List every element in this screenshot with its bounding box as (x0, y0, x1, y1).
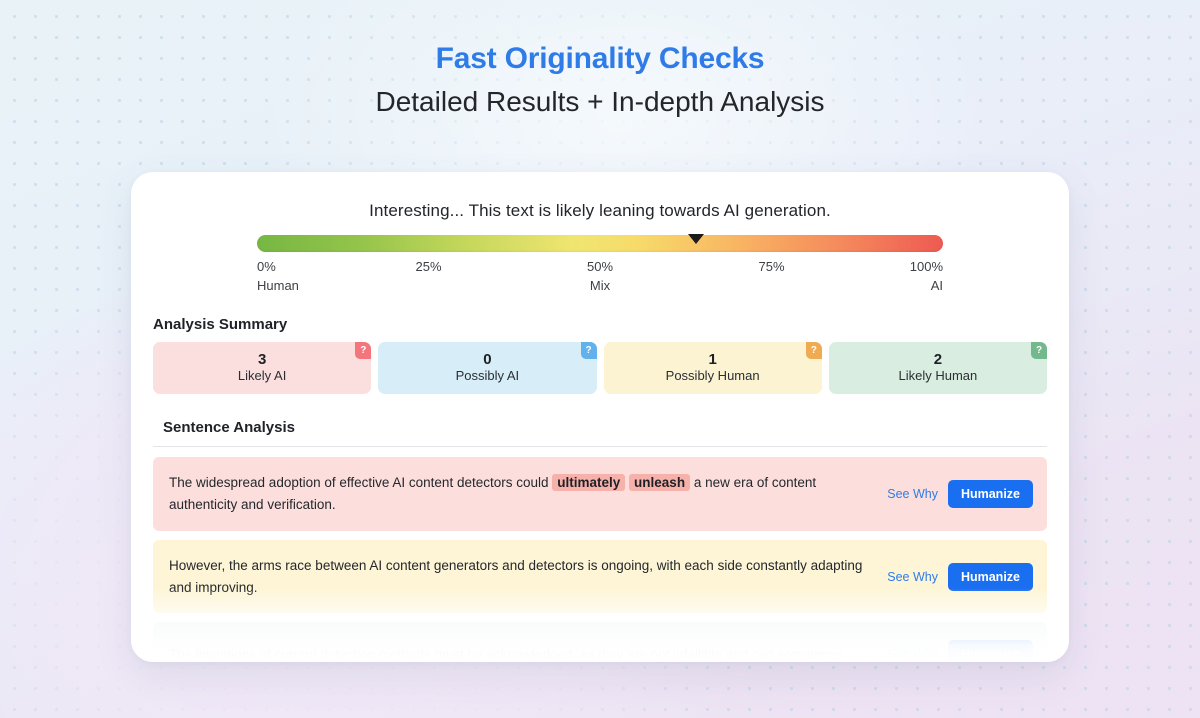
highlighted-phrase[interactable]: unleash (629, 474, 690, 491)
summary-card-likely-ai-count: 3 (258, 352, 266, 369)
sentence-row: However, the arms race between AI conten… (153, 540, 1047, 614)
summary-card-possibly-ai-count: 0 (483, 352, 491, 369)
results-panel: Interesting... This text is likely leani… (131, 172, 1069, 662)
gauge-marker-icon (688, 234, 704, 244)
gauge-tick-0-label: Human (257, 277, 299, 296)
summary-card-possibly-human-label: Possibly Human (666, 369, 760, 384)
gauge-tick-50-percent: 50% (587, 258, 613, 277)
verdict-text: Interesting... This text is likely leani… (131, 172, 1069, 221)
see-why-link[interactable]: See Why (887, 570, 938, 584)
gauge-tick-100-label: AI (910, 277, 943, 296)
sentence-analysis-title: Sentence Analysis (163, 419, 1069, 436)
help-icon[interactable]: ? (355, 342, 371, 359)
help-icon[interactable]: ? (581, 342, 597, 359)
sentence-row: The widespread adoption of effective AI … (153, 457, 1047, 531)
humanize-button[interactable]: Humanize (948, 640, 1033, 662)
sentence-row: The limitations of current detection met… (153, 622, 1047, 662)
gauge-bar (257, 235, 943, 252)
gauge-tick-75: 75% (758, 258, 784, 277)
see-why-link[interactable]: See Why (887, 647, 938, 661)
row-actions: See Why Humanize (887, 563, 1033, 591)
gauge-tick-labels: 0% Human 25% 50% Mix 75% 100% AI (257, 258, 943, 300)
help-icon[interactable]: ? (1031, 342, 1047, 359)
summary-card-possibly-human[interactable]: 1 Possibly Human ? (604, 342, 822, 394)
gauge-tick-25-percent: 25% (415, 258, 441, 277)
analysis-summary-cards: 3 Likely AI ? 0 Possibly AI ? 1 Possibly… (153, 342, 1047, 394)
summary-card-likely-ai-label: Likely AI (238, 369, 286, 384)
gauge-tick-75-percent: 75% (758, 258, 784, 277)
summary-card-likely-human-count: 2 (934, 352, 942, 369)
summary-card-likely-human-label: Likely Human (898, 369, 977, 384)
sentence-analysis-divider (153, 446, 1047, 447)
gauge-tick-50: 50% Mix (587, 258, 613, 296)
see-why-link[interactable]: See Why (887, 487, 938, 501)
gauge-tick-0-percent: 0% (257, 258, 299, 277)
analysis-summary-title: Analysis Summary (153, 316, 1069, 333)
summary-card-possibly-ai[interactable]: 0 Possibly AI ? (378, 342, 596, 394)
summary-card-likely-human[interactable]: 2 Likely Human ? (829, 342, 1047, 394)
gauge-tick-50-label: Mix (587, 277, 613, 296)
hero-headings: Fast Originality Checks Detailed Results… (0, 0, 1200, 122)
help-icon[interactable]: ? (806, 342, 822, 359)
page-title: Fast Originality Checks (0, 40, 1200, 78)
sentence-text: The widespread adoption of effective AI … (169, 472, 887, 516)
humanize-button[interactable]: Humanize (948, 480, 1033, 508)
gauge-tick-100-percent: 100% (910, 258, 943, 277)
humanize-button[interactable]: Humanize (948, 563, 1033, 591)
page-subtitle: Detailed Results + In-depth Analysis (0, 82, 1200, 123)
row-actions: See Why Humanize (887, 480, 1033, 508)
summary-card-possibly-human-count: 1 (708, 352, 716, 369)
ai-probability-gauge: 0% Human 25% 50% Mix 75% 100% AI (257, 235, 943, 300)
gauge-tick-0: 0% Human (257, 258, 299, 296)
sentence-text: The limitations of current detection met… (169, 644, 887, 663)
sentence-list: The widespread adoption of effective AI … (153, 457, 1047, 662)
highlighted-phrase[interactable]: ultimately (552, 474, 625, 491)
summary-card-possibly-ai-label: Possibly AI (456, 369, 520, 384)
gauge-tick-100: 100% AI (910, 258, 943, 296)
row-actions: See Why Humanize (887, 640, 1033, 662)
summary-card-likely-ai[interactable]: 3 Likely AI ? (153, 342, 371, 394)
gauge-tick-25: 25% (415, 258, 441, 277)
sentence-text: However, the arms race between AI conten… (169, 555, 887, 599)
sentence-text-part: The widespread adoption of effective AI … (169, 475, 552, 490)
